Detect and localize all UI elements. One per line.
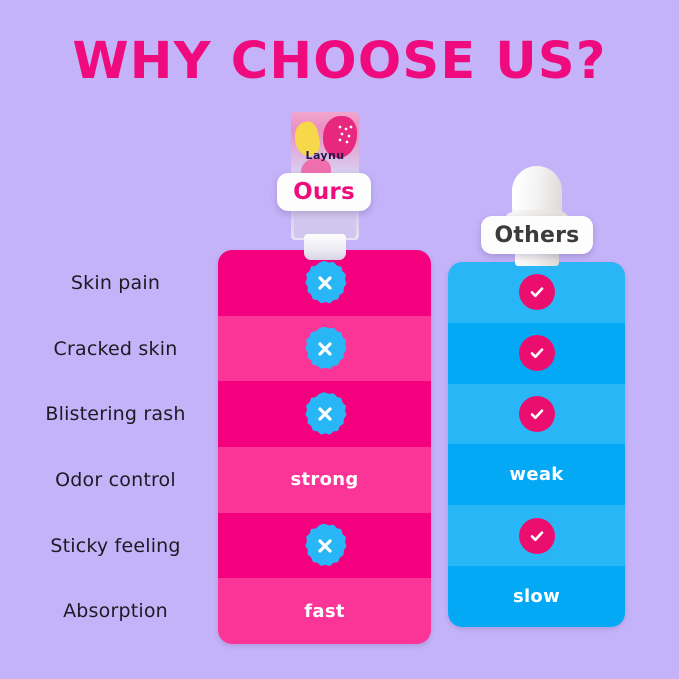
others-badge-label: Others [495,223,580,248]
feature-label: Cracked skin [54,338,178,360]
check-mark-badge-icon [519,274,555,310]
feature-label: Odor control [55,469,176,491]
ours-value-text: strong [290,469,358,490]
x-mark-badge-icon [303,524,347,568]
feature-label: Blistering rash [45,403,185,425]
comparison-infographic: WHY CHOOSE US? Skin pain Cracked skin Bl… [0,0,679,679]
others-value-text: weak [509,464,563,485]
others-cell-blistering-rash [448,384,625,445]
others-cell-odor-control: weak [448,444,625,505]
others-column: weak slow [448,262,625,627]
ours-column: strong fast [218,250,431,644]
ours-cell-blistering-rash [218,381,431,447]
tube-cap [304,234,346,260]
feature-label-row: Absorption [18,578,213,644]
check-mark-badge-icon [519,396,555,432]
deodorant-cap [512,166,562,212]
page-title: WHY CHOOSE US? [0,36,679,87]
ours-value-text: fast [304,601,345,622]
x-mark-badge-icon [303,392,347,436]
feature-label-row: Odor control [18,447,213,513]
ours-cell-odor-control: strong [218,447,431,513]
feature-label: Sticky feeling [50,535,180,557]
x-mark-badge-icon [303,261,347,305]
ours-cell-cracked-skin [218,316,431,382]
ours-cell-sticky-feeling [218,513,431,579]
x-mark-badge-icon [303,327,347,371]
decorative-dots-icon [337,124,355,144]
others-badge: Others [481,216,593,254]
feature-label-row: Skin pain [18,250,213,316]
ours-cell-absorption: fast [218,578,431,644]
product-brand-name: Laynu [291,149,359,162]
ours-badge: Ours [277,173,371,211]
feature-label-row: Cracked skin [18,316,213,382]
check-mark-badge-icon [519,518,555,554]
others-value-text: slow [513,586,560,607]
feature-label-row: Blistering rash [18,381,213,447]
others-cell-cracked-skin [448,323,625,384]
others-cell-sticky-feeling [448,505,625,566]
feature-label: Skin pain [71,272,160,294]
feature-label-row: Sticky feeling [18,513,213,579]
check-mark-badge-icon [519,335,555,371]
others-cell-absorption: slow [448,566,625,627]
feature-label-column: Skin pain Cracked skin Blistering rash O… [18,250,213,644]
others-cell-skin-pain [448,262,625,323]
feature-label: Absorption [63,600,168,622]
ours-badge-label: Ours [293,179,355,205]
